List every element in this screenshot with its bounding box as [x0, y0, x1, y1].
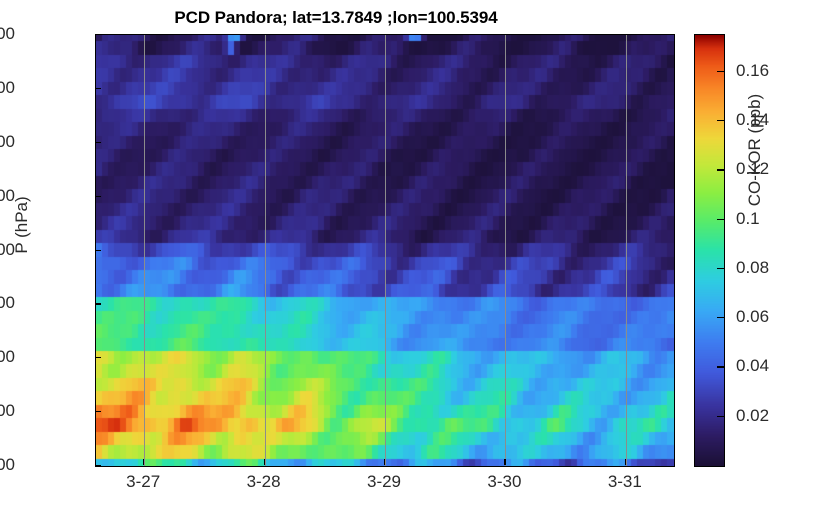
x-tick-label-3-31: 3-31	[608, 472, 642, 492]
colorbar-tick-mark-0.04	[717, 366, 724, 367]
x-tick-label-3-28: 3-28	[247, 472, 281, 492]
y-tick-label-200: 200	[0, 24, 15, 44]
y-tick-mark-1000	[95, 465, 101, 466]
y-tick-mark-300	[95, 88, 101, 89]
colorbar-tick-mark-0.06	[717, 317, 724, 318]
heatmap-plot-area[interactable]	[95, 34, 675, 467]
y-tick-label-900: 900	[0, 401, 15, 421]
y-tick-mark-900	[95, 411, 101, 412]
x-tick-mark-3-30	[504, 459, 505, 465]
colorbar[interactable]	[694, 34, 725, 467]
colorbar-tick-label-0.08: 0.08	[736, 258, 769, 278]
y-tick-mark-500	[95, 196, 101, 197]
y-tick-label-800: 800	[0, 347, 15, 367]
colorbar-tick-label-0.02: 0.02	[736, 406, 769, 426]
y-tick-mark-600	[95, 250, 101, 251]
chart-title: PCD Pandora; lat=13.7849 ;lon=100.5394	[0, 8, 672, 28]
colorbar-tick-mark-0.1	[717, 219, 724, 220]
colorbar-tick-mark-0.08	[717, 268, 724, 269]
y-tick-mark-800	[95, 357, 101, 358]
y-tick-label-1000: 1000	[0, 455, 15, 475]
y-tick-mark-700	[95, 303, 101, 304]
heatmap-canvas[interactable]	[96, 35, 674, 466]
y-axis-label: P (hPa)	[12, 170, 32, 280]
x-tick-mark-3-29	[384, 459, 385, 465]
y-tick-label-700: 700	[0, 293, 15, 313]
x-tick-mark-3-27	[143, 459, 144, 465]
colorbar-tick-mark-0.16	[717, 71, 724, 72]
y-tick-label-400: 400	[0, 132, 15, 152]
colorbar-tick-mark-0.02	[717, 416, 724, 417]
x-tick-label-3-27: 3-27	[126, 472, 160, 492]
colorbar-label: CO-KOR (ppb)	[745, 50, 765, 250]
matlab-figure: PCD Pandora; lat=13.7849 ;lon=100.5394 2…	[0, 0, 833, 521]
colorbar-tick-label-0.06: 0.06	[736, 307, 769, 327]
colorbar-tick-mark-0.12	[717, 169, 724, 170]
colorbar-tick-mark-0.14	[717, 120, 724, 121]
colorbar-tick-label-0.04: 0.04	[736, 356, 769, 376]
x-tick-mark-3-31	[625, 459, 626, 465]
x-tick-label-3-29: 3-29	[367, 472, 401, 492]
colorbar-canvas	[695, 35, 724, 466]
y-tick-label-300: 300	[0, 78, 15, 98]
x-tick-label-3-30: 3-30	[487, 472, 521, 492]
y-tick-mark-400	[95, 142, 101, 143]
x-tick-mark-3-28	[264, 459, 265, 465]
